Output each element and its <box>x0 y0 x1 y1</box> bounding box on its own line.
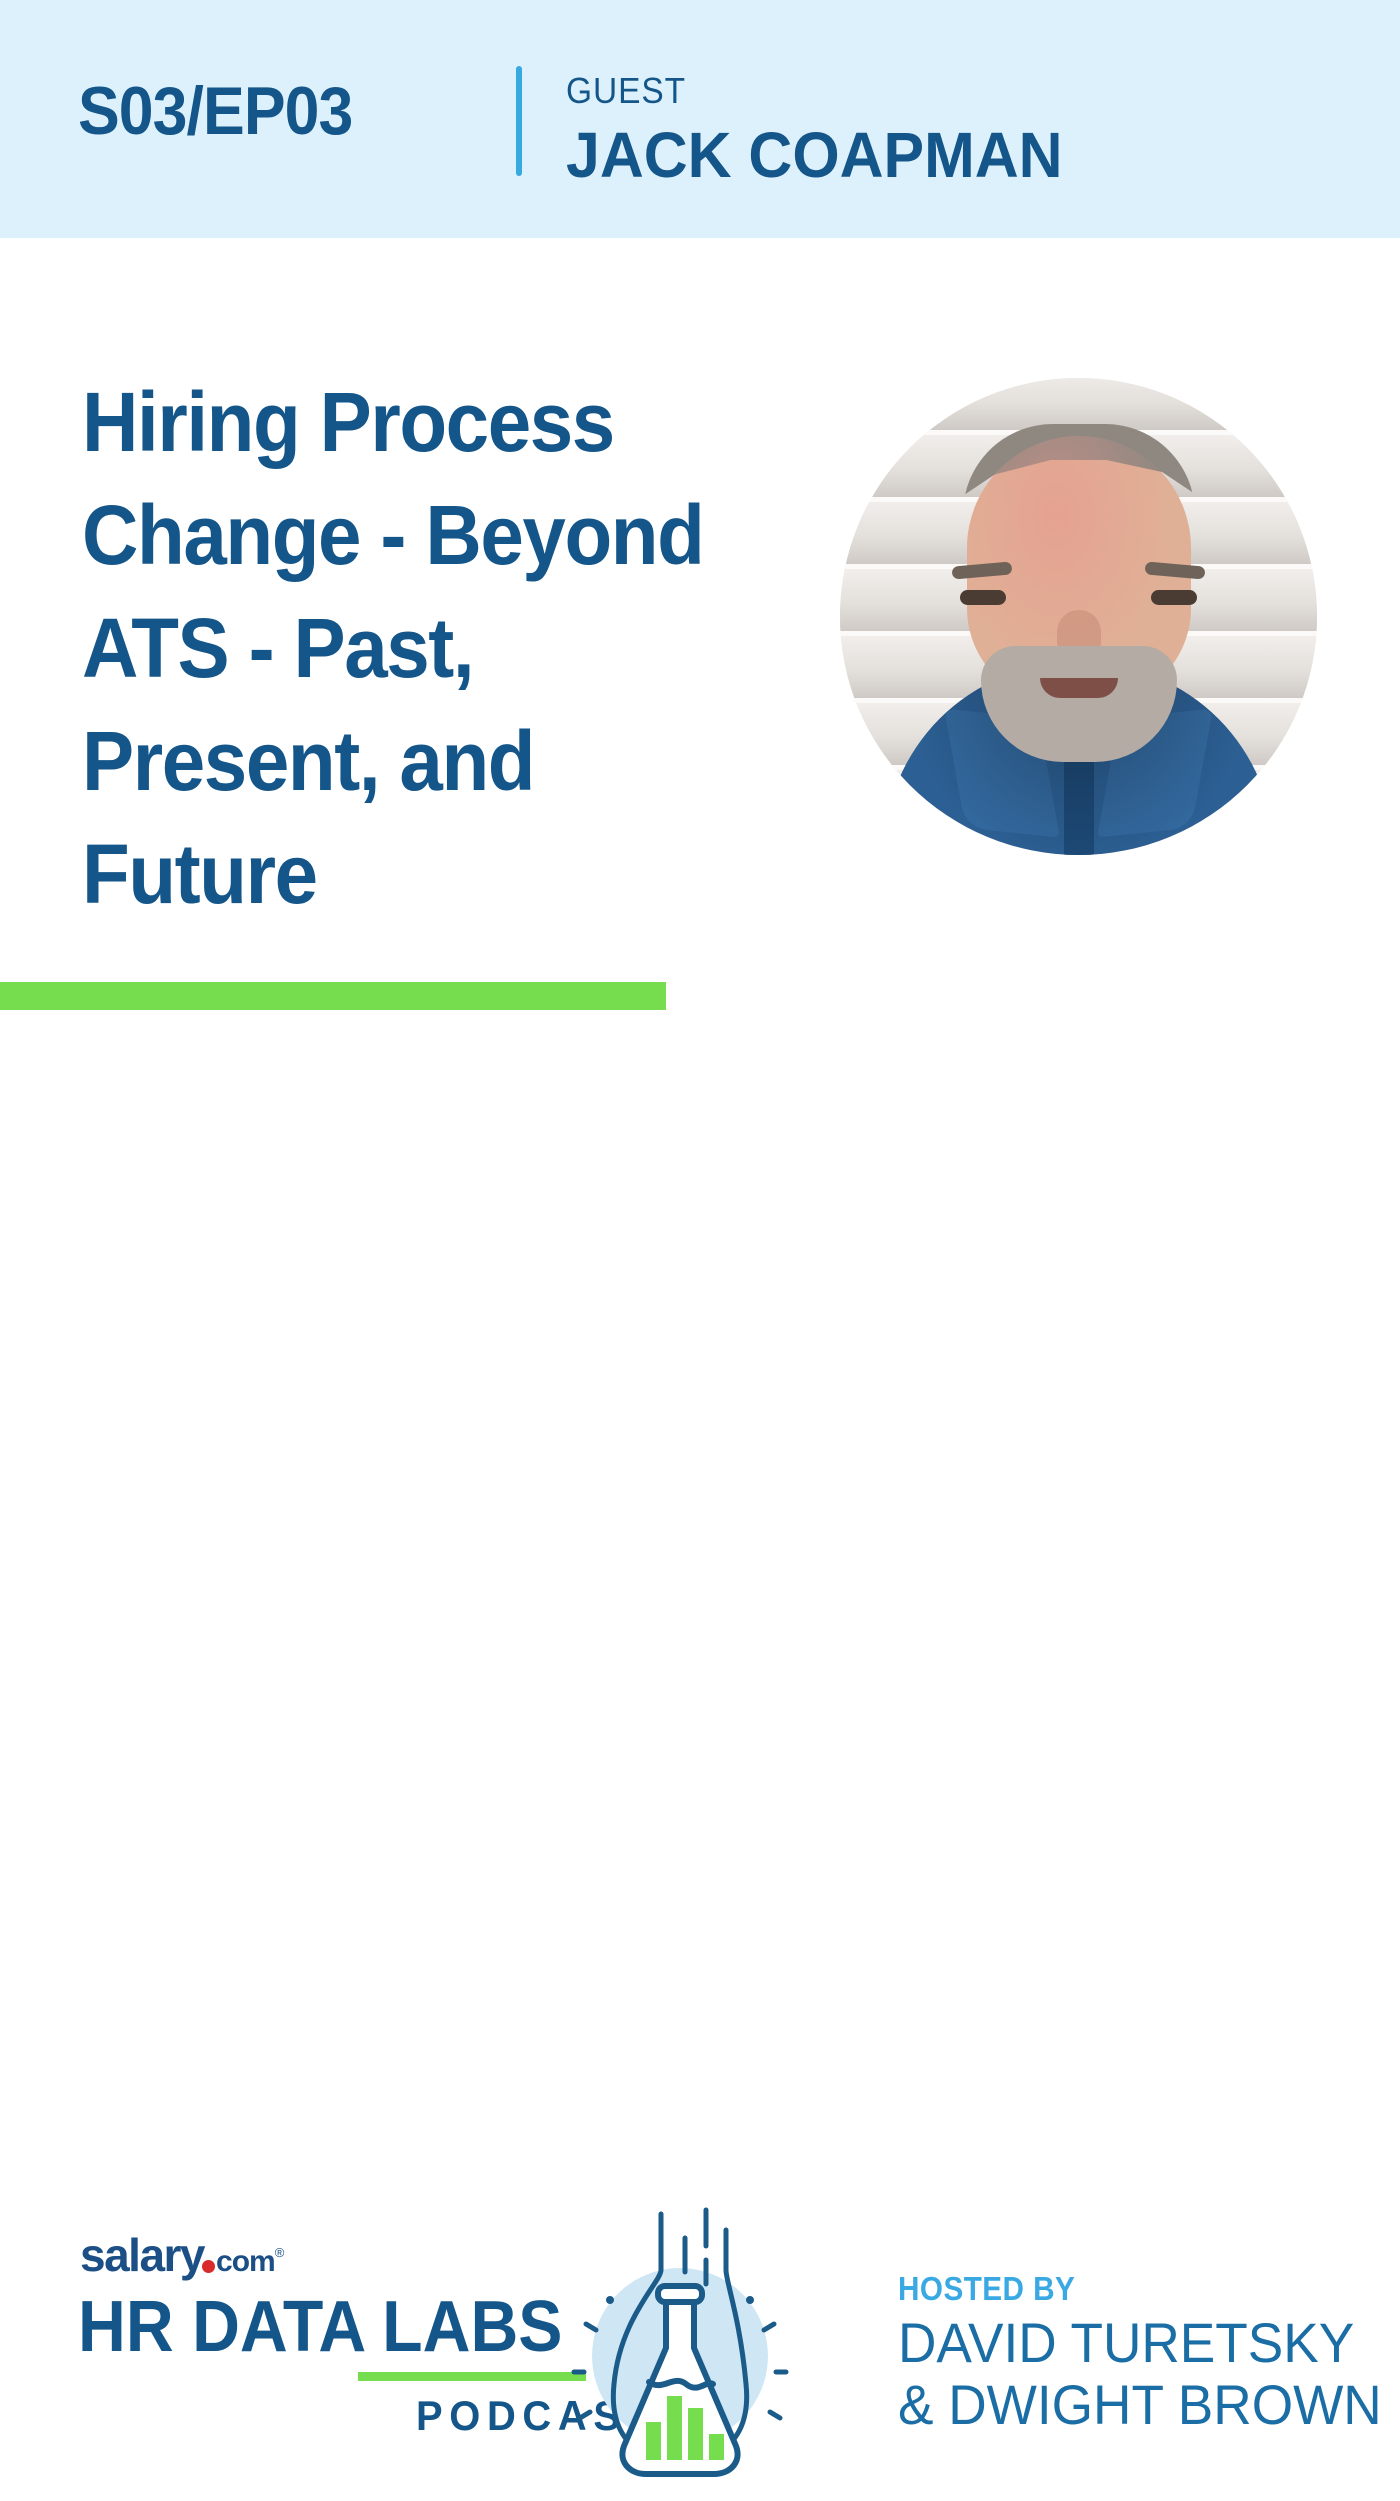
episode-title: Hiring Process Change - Beyond ATS - Pas… <box>82 366 733 931</box>
hosted-by-label: HOSTED BY <box>898 2270 1075 2308</box>
flask-bar-chart-icon <box>548 2196 848 2496</box>
host-name-line-1: DAVID TURETSKY <box>898 2312 1382 2374</box>
registered-mark: ® <box>275 2245 283 2260</box>
mouth <box>1040 678 1118 698</box>
host-name-line-2: & DWIGHT BROWN <box>898 2374 1382 2436</box>
guest-photo <box>840 378 1317 855</box>
brand-block: salarycom® HR DATA LABS PODCAST <box>0 1100 1400 1400</box>
header-band: S03/EP03 GUEST JACK COAPMAN <box>0 0 1400 238</box>
eye-right <box>1151 590 1197 605</box>
salary-com-suffix: com <box>216 2245 275 2278</box>
salary-wordmark: salary <box>80 2229 204 2281</box>
header-divider <box>516 66 522 176</box>
salary-red-dot-icon <box>202 2260 215 2273</box>
episode-code: S03/EP03 <box>78 72 352 150</box>
guest-photo-image <box>840 378 1317 855</box>
guest-name: JACK COAPMAN <box>566 118 1063 192</box>
host-names: DAVID TURETSKY & DWIGHT BROWN <box>898 2312 1382 2436</box>
green-accent-bar <box>0 982 666 1010</box>
salary-com-logo: salarycom® <box>80 2228 283 2282</box>
guest-label: GUEST <box>566 70 686 112</box>
show-name: HR DATA LABS <box>78 2286 562 2368</box>
eye-left <box>960 590 1006 605</box>
